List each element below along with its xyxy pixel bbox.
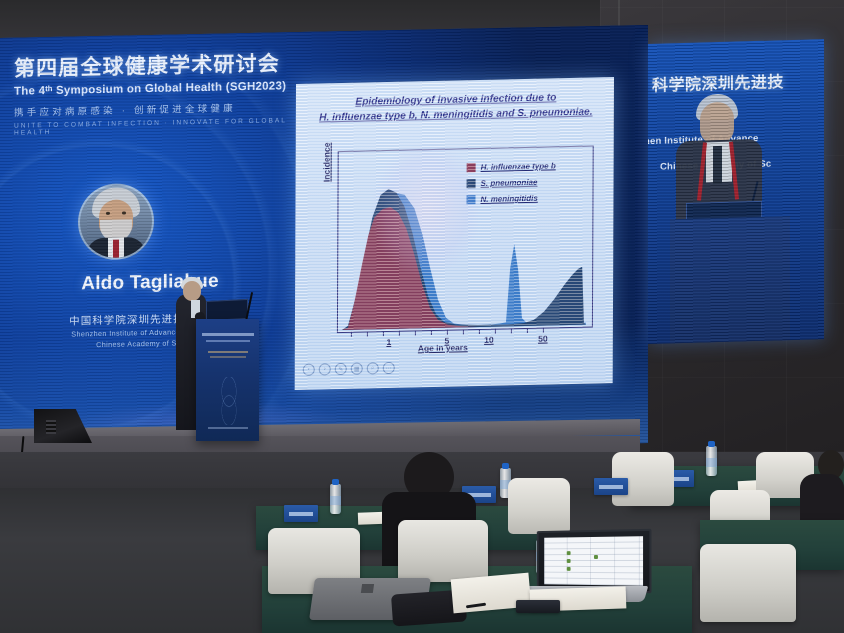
podium-laptop	[206, 299, 248, 321]
monitor-grille	[46, 420, 56, 434]
branded-podium	[196, 319, 259, 441]
slide-title: Epidemiology of invasive infection due t…	[306, 89, 606, 126]
chair-back	[398, 520, 488, 582]
podium-footer-bar	[208, 427, 248, 429]
projected-slide: Epidemiology of invasive infection due t…	[295, 77, 614, 390]
chart-plot-area: H. influenzae type b S. pneumoniae N. me…	[337, 146, 594, 334]
legend-item-hib: H. influenzae type b	[467, 161, 587, 173]
legend-swatch-spneumoniae	[467, 179, 476, 188]
legend-swatch-nmeningitidis	[466, 195, 475, 204]
chair-back	[508, 478, 570, 534]
bag-tag	[361, 584, 374, 593]
slide-title-line2: H. influenzae type b, N. meningitidis an…	[319, 107, 592, 124]
podium-title-bar-2	[206, 340, 250, 342]
legend-label-hib: H. influenzae type b	[481, 161, 556, 172]
presenter-control-bar[interactable]: ‹ › ✎ ▦ ⌕ ⋯	[303, 362, 395, 376]
zoom-slide-icon[interactable]: ⌕	[367, 362, 379, 374]
water-bottle	[706, 446, 717, 476]
pen-annotate-icon[interactable]: ✎	[335, 363, 347, 375]
podium-title-bar-1	[202, 333, 254, 336]
legend-item-spneumoniae: S. pneumoniae	[467, 177, 587, 189]
more-options-icon[interactable]: ⋯	[383, 362, 395, 374]
speaker-at-podium-head	[183, 281, 201, 301]
smartphone[interactable]	[516, 600, 560, 613]
next-slide-icon[interactable]: ›	[319, 363, 331, 375]
podium-slogan-bar-2	[210, 356, 246, 358]
slide-title-line1: Epidemiology of invasive infection due t…	[355, 92, 556, 107]
slide-menu-icon[interactable]: ▦	[351, 363, 363, 375]
chair-back	[700, 544, 796, 622]
chart-y-axis-label: Incidence	[322, 127, 332, 197]
legend-swatch-hib	[467, 163, 476, 172]
right-led-panel-live-feed: 科学院深圳先进技 hen Institute of Advance Chines…	[648, 39, 824, 344]
legend-label-spneumoniae: S. pneumoniae	[481, 178, 538, 188]
chart-legend: H. influenzae type b S. pneumoniae N. me…	[466, 161, 586, 212]
legend-item-nmeningitidis: N. meningitidis	[466, 193, 586, 205]
podium-slogan-bar-1	[208, 351, 248, 353]
right-panel-scanlines	[648, 39, 824, 344]
laptop-screen	[537, 529, 652, 593]
conference-hall-photo: 第四届全球健康学术研讨会 The 4ᵗʰ Symposium on Global…	[0, 0, 844, 633]
podium-dna-helix-graphic	[214, 377, 244, 425]
name-placard	[594, 478, 628, 495]
laptop-spreadsheet-ui	[544, 536, 643, 586]
legend-label-nmeningitidis: N. meningitidis	[480, 194, 537, 204]
name-placard	[284, 505, 318, 522]
water-bottle	[330, 484, 341, 514]
previous-slide-icon[interactable]: ‹	[303, 364, 315, 376]
